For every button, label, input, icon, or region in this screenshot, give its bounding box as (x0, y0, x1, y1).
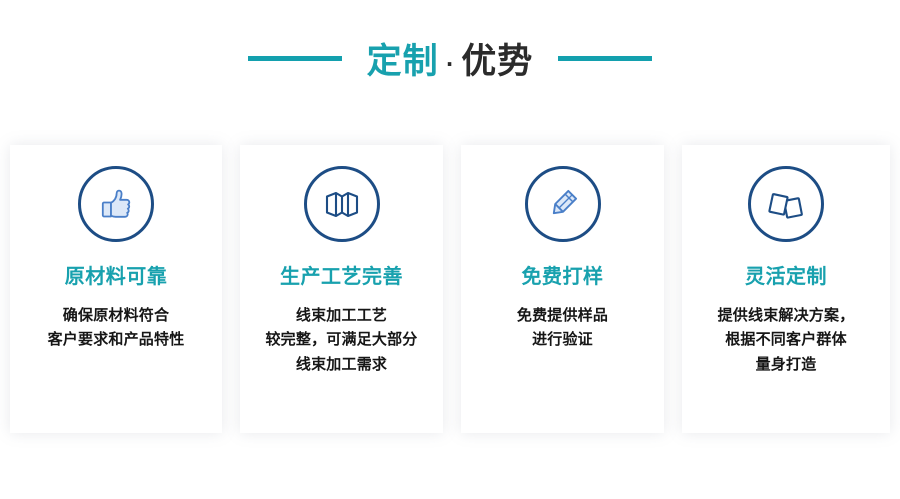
feature-card-list: 原材料可靠 确保原材料符合 客户要求和产品特性 生产工艺完善 线束加工工艺 较完… (10, 145, 890, 433)
feature-card-description-line: 线束加工工艺 (265, 303, 417, 327)
feature-card-description-line: 进行验证 (517, 327, 608, 351)
feature-card[interactable]: 免费打样 免费提供样品 进行验证 (461, 145, 664, 433)
pencil-icon (543, 184, 583, 224)
feature-card[interactable]: 灵活定制 提供线束解决方案， 根据不同客户群体 量身打造 (682, 145, 890, 433)
section-heading: 定制 · 优势 (0, 30, 900, 86)
icon-circle (304, 166, 380, 242)
heading-rule-right (558, 56, 652, 61)
page-title: 定制 · 优势 (367, 33, 534, 84)
page-title-accent: 定制 (367, 33, 439, 84)
feature-card-title: 灵活定制 (745, 264, 827, 288)
feature-card-title: 原材料可靠 (65, 264, 168, 288)
icon-circle (525, 166, 601, 242)
feature-card-description-line: 根据不同客户群体 (718, 327, 855, 351)
feature-card-description-line: 免费提供样品 (517, 303, 608, 327)
feature-card-description: 线束加工工艺 较完整，可满足大部分 线束加工需求 (257, 303, 425, 376)
feature-card[interactable]: 生产工艺完善 线束加工工艺 较完整，可满足大部分 线束加工需求 (240, 145, 443, 433)
feature-card-description: 免费提供样品 进行验证 (509, 303, 616, 352)
icon-circle (748, 166, 824, 242)
feature-card-description-line: 提供线束解决方案， (718, 303, 855, 327)
feature-card-title: 免费打样 (522, 264, 604, 288)
feature-card-description-line: 量身打造 (718, 352, 855, 376)
page-title-rest: 优势 (461, 33, 533, 84)
feature-card-description: 确保原材料符合 客户要求和产品特性 (40, 303, 193, 352)
feature-card-description-line: 较完整，可满足大部分 (265, 327, 417, 351)
heading-rule-left (248, 56, 342, 61)
thumbs-up-icon (96, 184, 136, 224)
icon-circle (78, 166, 154, 242)
folded-map-icon (322, 184, 362, 224)
feature-card-title: 生产工艺完善 (280, 264, 403, 288)
feature-card-description-line: 客户要求和产品特性 (48, 327, 185, 351)
feature-card-description-line: 线束加工需求 (265, 352, 417, 376)
feature-card[interactable]: 原材料可靠 确保原材料符合 客户要求和产品特性 (10, 145, 222, 433)
feature-card-description-line: 确保原材料符合 (48, 303, 185, 327)
stacked-cards-icon (766, 184, 806, 224)
feature-card-description: 提供线束解决方案， 根据不同客户群体 量身打造 (710, 303, 863, 376)
page-title-separator: · (439, 52, 462, 76)
